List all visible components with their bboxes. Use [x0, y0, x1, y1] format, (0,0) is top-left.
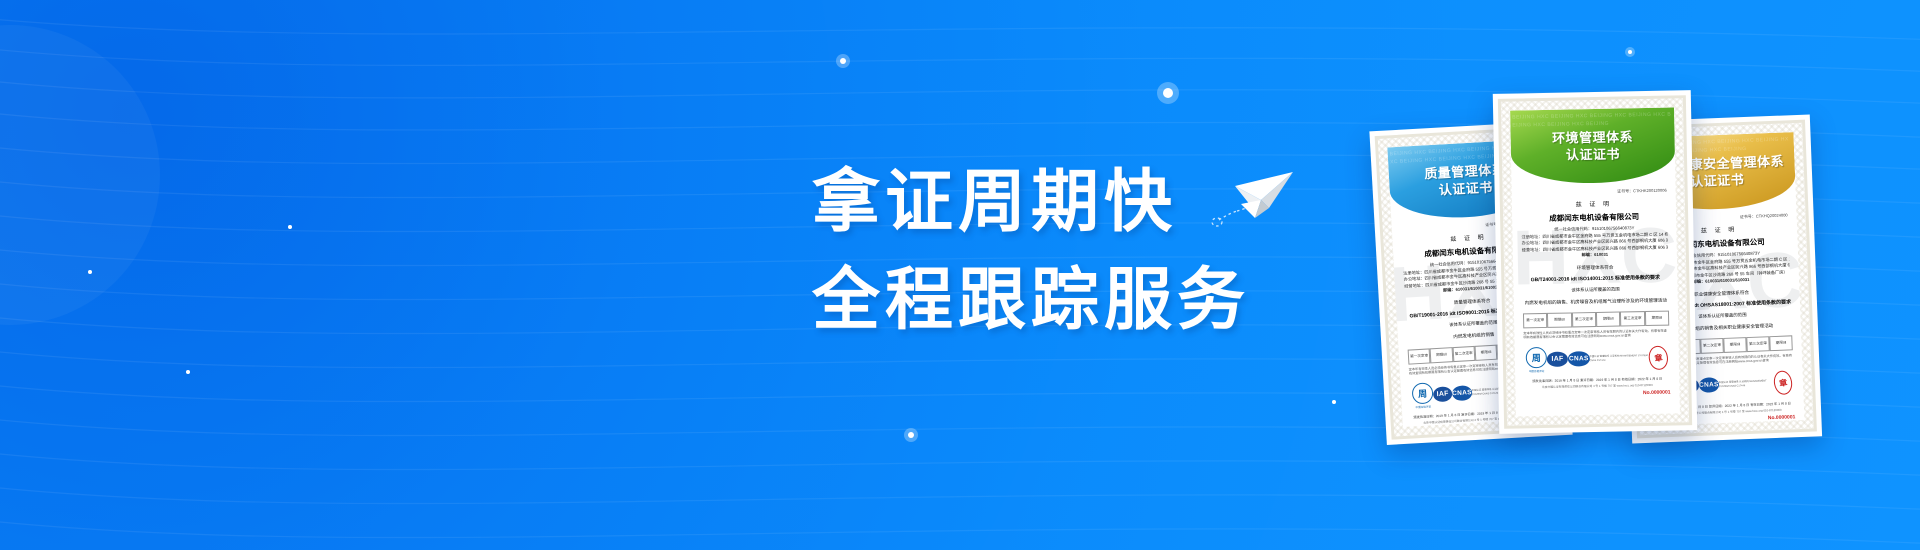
audit-cell: 期限till — [1430, 347, 1453, 363]
audit-cell: 第一次定审 — [1523, 312, 1548, 327]
certificate-environment: BEIJING HXC BEIJING HXC BEIJING HXC BEIJ… — [1493, 90, 1697, 434]
headline-row-1: 拿证周期快 — [812, 168, 1295, 236]
decor-dot — [1628, 50, 1632, 54]
decor-dot — [88, 270, 92, 274]
iaf-seal-icon: IAF — [1433, 386, 1453, 402]
decor-dot — [1332, 400, 1336, 404]
cnas-seal-icon: CNAS — [1568, 351, 1590, 366]
certificate-scope: 内燃发电机组的销售、机房噪音及机组尾气治理所涉及的环境管理活动 — [1523, 296, 1669, 306]
cnas-seal-icon: CNAS — [1452, 385, 1472, 401]
cnca-seal-label: 中国合格评定 — [1526, 369, 1547, 373]
certificate-group: BEIJING HXC BEIJING HXC BEIJING HXC BEIJ… — [1378, 92, 1920, 472]
decor-dot — [840, 58, 846, 64]
certificate-certify-label: 兹 证 明 — [1521, 198, 1667, 210]
audit-cell: 期限till — [1596, 311, 1621, 326]
certificate-standard: GB/T24001-2016 idt ISO14001:2015 标准使用条款的… — [1522, 273, 1668, 283]
decor-dot — [288, 225, 292, 229]
cnca-seal-icon: 周 中国合格评定 — [1411, 382, 1433, 409]
decor-dot — [186, 370, 190, 374]
headline-row-2: 全程跟踪服务 — [812, 266, 1295, 334]
cnca-seal-icon: 周 中国合格评定 — [1526, 347, 1547, 373]
audit-cell: 期限till — [1645, 310, 1670, 325]
certificate-system-label: 环境管理体系符合 — [1522, 263, 1668, 272]
certificate-seal-row: 周 中国合格评定 IAF CNAS 中国认证 管理体系 认证机构 MANAGEM… — [1524, 344, 1670, 373]
certificate-serial: No.0000001 — [1524, 389, 1670, 398]
certificate-header: BEIJING HXC BEIJING HXC BEIJING HXC BEIJ… — [1510, 107, 1675, 184]
audit-cell: 第三次定审 — [1746, 336, 1770, 352]
certificate-audit-grid: 第一次定审 期限till 第二次定审 期限till 第三次定审 期限till — [1523, 310, 1669, 328]
cnca-seal-label: 中国合格评定 — [1413, 404, 1434, 409]
audit-cell: 第二次定审 — [1700, 337, 1724, 353]
decor-dot — [1163, 88, 1173, 98]
audit-cell: 期限till — [1547, 312, 1572, 327]
audit-cell: 期限till — [1723, 337, 1747, 353]
cnas-seal-icon: CNAS — [1699, 377, 1719, 393]
certificate-footer: 北京中路认证有限责任公司联合有限公司 4 号 1 号楼 707 室 www.hx… — [1524, 382, 1670, 389]
certificate-fine-print: 定本年有效性人员必须经持书有重点定审一次定审审核人员有效期内的认证有关大作有效。… — [1523, 328, 1669, 340]
decor-dot — [908, 432, 914, 438]
audit-cell: 第三次定审 — [1620, 311, 1645, 326]
certificate-title-line2: 认证证书 — [1438, 179, 1493, 199]
audit-cell: 第二次定审 — [1572, 311, 1597, 326]
certificate-scope-label: 该体系认证所覆盖的范围 — [1522, 285, 1668, 294]
certificate-number: 证书号：CTKHK200120006 — [1521, 188, 1667, 197]
certificate-company: 成都闰东电机设备有限公司 — [1521, 211, 1667, 225]
red-stamp-icon: 章 — [1772, 369, 1794, 396]
certificate-postcode: 邮编：610031 — [1522, 251, 1668, 260]
headline-block: 拿证周期快 全程跟踪服务 — [812, 168, 1295, 334]
cnas-seal-meta: 中国认证 管理体系 认证机构 MANAGEMENT SYSTEM CNAS C1… — [1719, 379, 1774, 388]
certificate-title-line2: 认证证书 — [1690, 171, 1745, 190]
red-stamp-icon: 章 — [1647, 344, 1670, 371]
iaf-seal-icon: IAF — [1547, 352, 1569, 367]
audit-cell: 第一次定审 — [1408, 348, 1431, 364]
audit-cell: 第二次定审 — [1452, 345, 1475, 361]
promo-banner: 拿证周期快 全程跟踪服务 — [0, 0, 1920, 550]
audit-cell: 期限till — [1474, 344, 1497, 360]
audit-cell: 期限till — [1769, 335, 1793, 351]
headline-line-1: 拿证周期快 — [812, 168, 1177, 236]
decor-circle-top-left — [0, 25, 160, 325]
paper-plane-icon — [1211, 166, 1295, 233]
headline-line-2: 全程跟踪服务 — [812, 266, 1250, 334]
certificate-title-line2: 认证证书 — [1566, 146, 1620, 164]
certificate-title-line1: 环境管理体系 — [1552, 128, 1633, 147]
cnas-seal-meta: 中国认证 管理体系 认证机构 MANAGEMENT SYSTEM CNAS C1… — [1589, 354, 1648, 362]
